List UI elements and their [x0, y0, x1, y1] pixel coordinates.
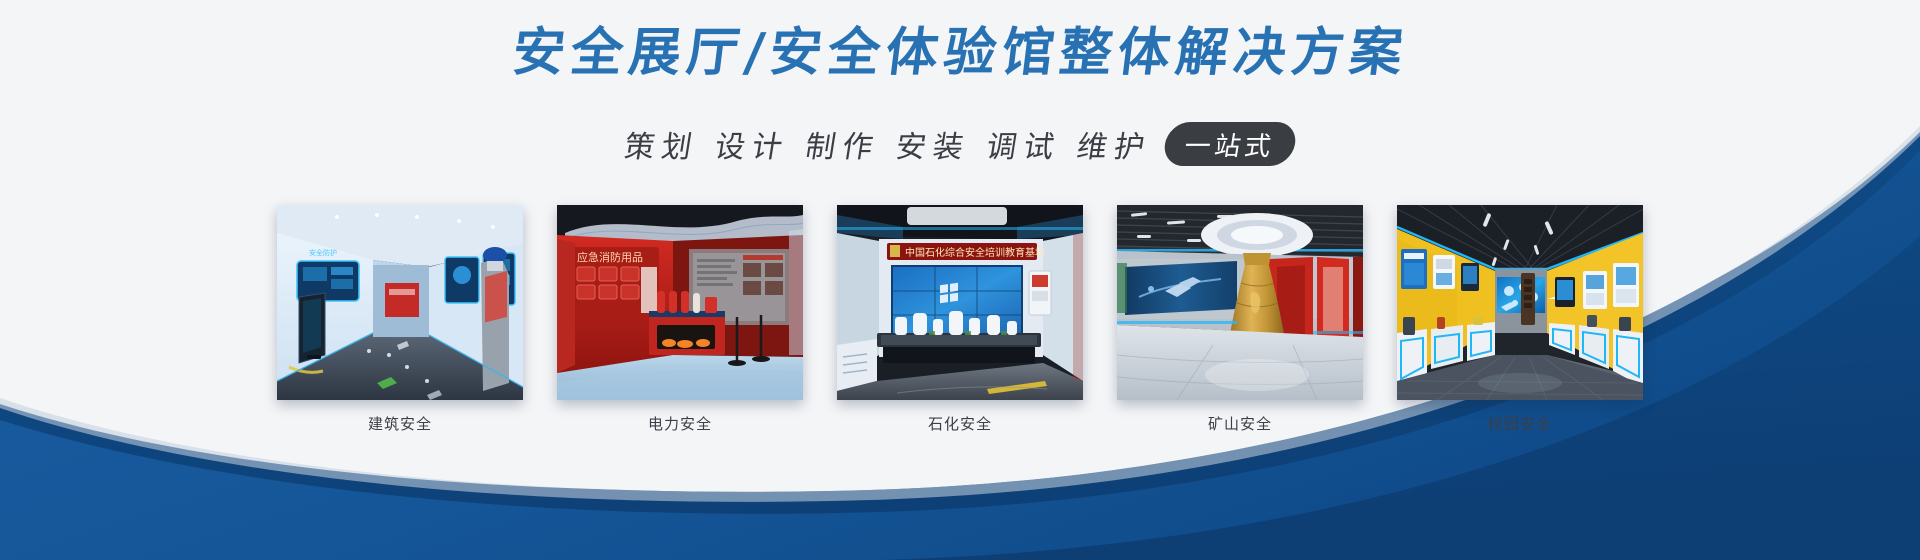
- svg-text:应急消防用品: 应急消防用品: [577, 250, 643, 264]
- thumbnail-electric-power-safety[interactable]: 应急消防用品: [557, 205, 803, 400]
- svg-text:安全防护: 安全防护: [309, 248, 337, 257]
- page-title: 安全展厅/安全体验馆整体解决方案: [509, 24, 1411, 82]
- gallery-card-1[interactable]: 安全防护: [277, 205, 523, 434]
- one-stop-badge: 一站式: [1162, 122, 1299, 166]
- gallery-caption-4: 矿山安全: [1117, 413, 1363, 434]
- banner-title-wrap: 安全展厅/安全体验馆整体解决方案: [0, 24, 1920, 82]
- gallery-caption-5: 校园安全: [1397, 413, 1643, 434]
- gallery-caption-2: 电力安全: [557, 413, 803, 434]
- thumbnail-campus-safety[interactable]: [1397, 205, 1643, 400]
- one-stop-badge-label: 一站式: [1182, 126, 1278, 163]
- gallery-card-2[interactable]: 应急消防用品: [557, 205, 803, 434]
- gallery-card-3[interactable]: 中国石化综合安全培训教育基地: [837, 205, 1083, 434]
- promo-banner: 安全展厅/安全体验馆整体解决方案 策划 设计 制作 安装 调试 维护 一站式: [0, 0, 1920, 560]
- gallery-caption-1: 建筑安全: [277, 413, 523, 434]
- thumbnail-mining-safety[interactable]: [1117, 205, 1363, 400]
- gallery-card-4[interactable]: 矿山安全: [1117, 205, 1363, 434]
- scene-gallery: 安全防护: [0, 205, 1920, 434]
- gallery-caption-3: 石化安全: [837, 413, 1083, 434]
- banner-subtitle-wrap: 策划 设计 制作 安装 调试 维护 一站式: [0, 122, 1920, 166]
- thumbnail-construction-safety[interactable]: 安全防护: [277, 205, 523, 400]
- banner-subtitle: 策划 设计 制作 安装 调试 维护: [621, 122, 1155, 166]
- svg-text:中国石化综合安全培训教育基地: 中国石化综合安全培训教育基地: [905, 246, 1045, 259]
- gallery-card-5[interactable]: 校园安全: [1397, 205, 1643, 434]
- thumbnail-petrochemical-safety[interactable]: 中国石化综合安全培训教育基地: [837, 205, 1083, 400]
